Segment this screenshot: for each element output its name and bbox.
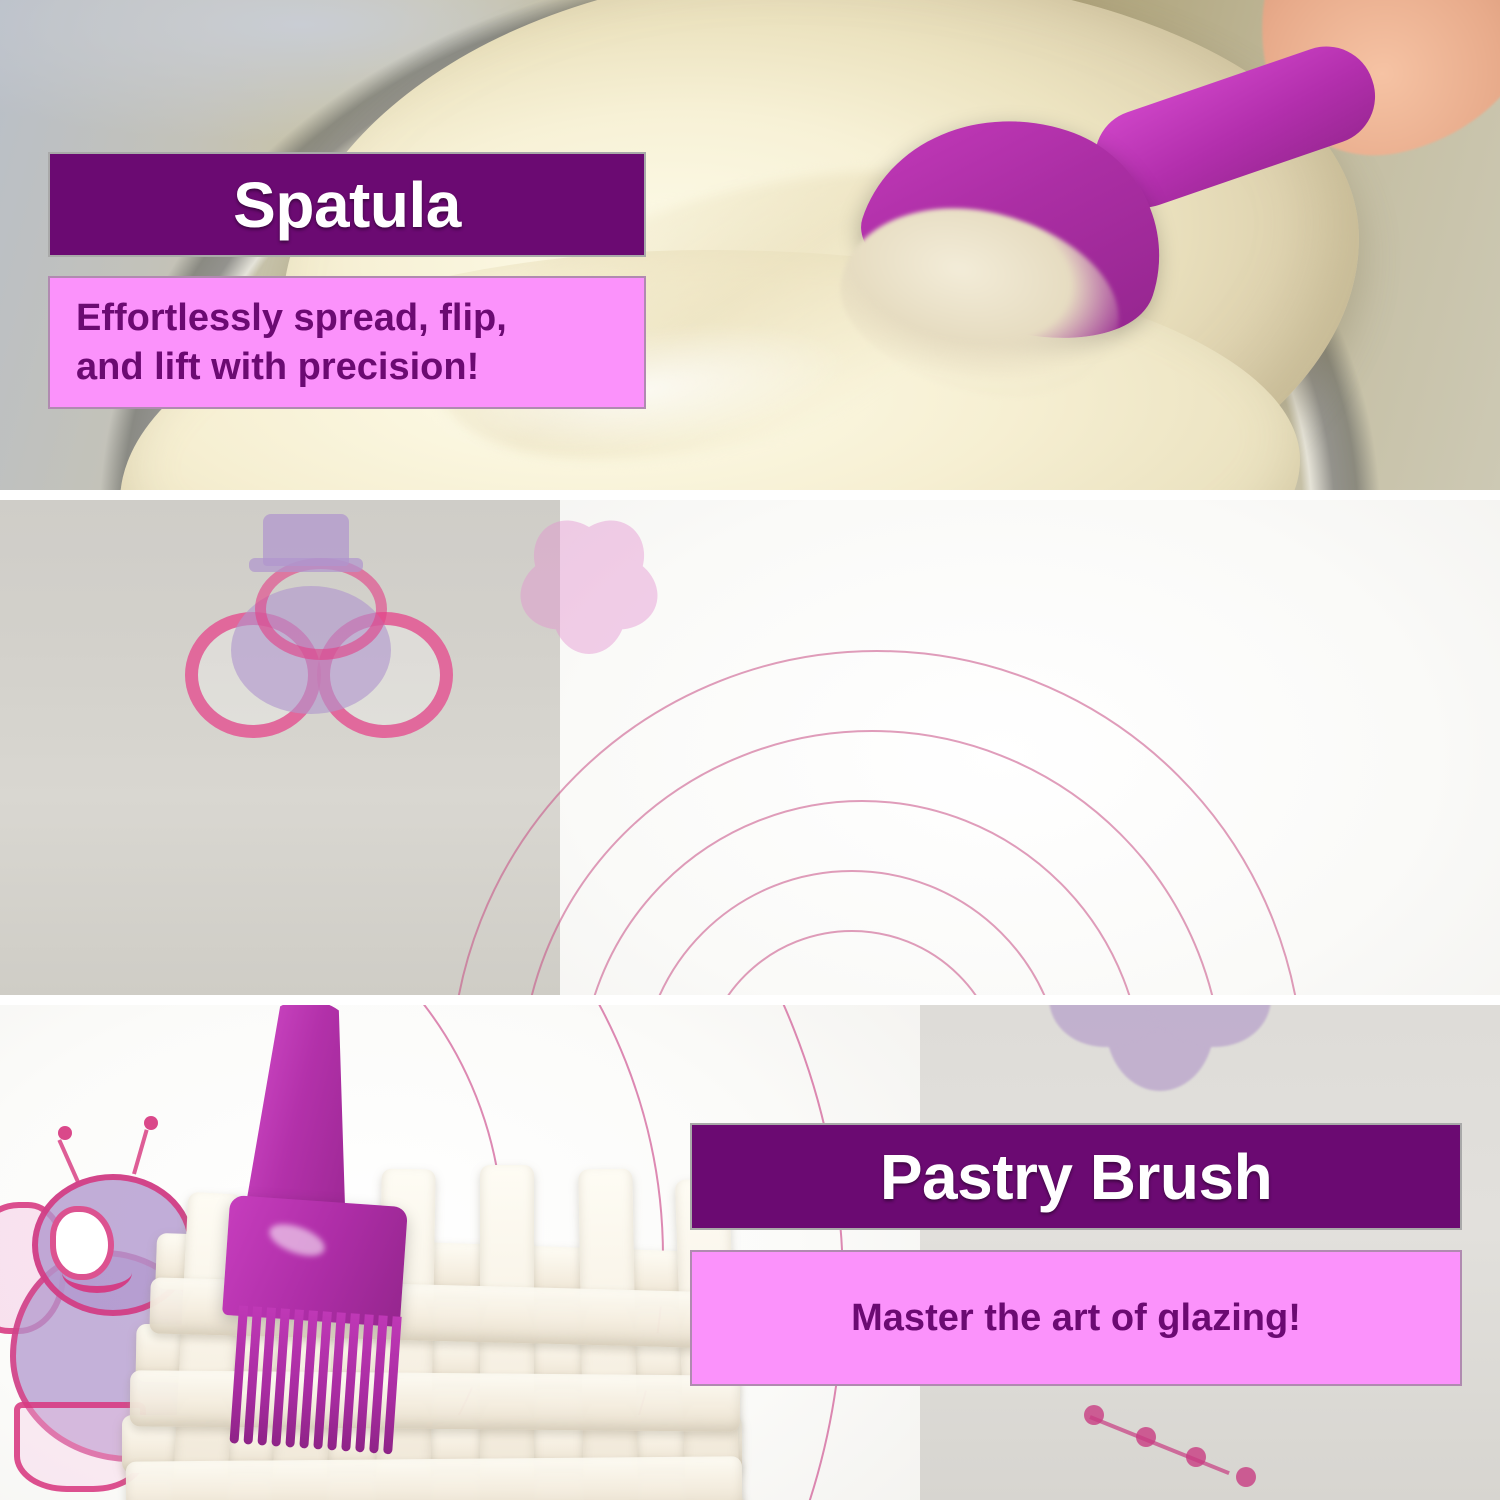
pastry-brush-description: Master the art of glazing! (690, 1250, 1462, 1386)
branch-dot (1236, 1467, 1256, 1487)
pastry-brush-title: Pastry Brush (690, 1123, 1462, 1230)
pastry-brush-callout: Pastry Brush Master the art of glazing! (690, 1123, 1462, 1386)
pastry-brush-description-line-1: Master the art of glazing! (851, 1294, 1301, 1343)
divider-2 (0, 995, 1500, 1005)
spatula-title: Spatula (48, 152, 646, 257)
mat-flower (500, 530, 680, 690)
branch-dot (1084, 1405, 1104, 1425)
spatula-description-line-1: Effortlessly spread, flip, (76, 294, 507, 343)
lattice-pie (60, 1115, 780, 1500)
brush-bristles (227, 1305, 404, 1456)
spatula-description-line-2: and lift with precision! (76, 343, 507, 392)
lattice-strip (126, 1456, 742, 1500)
panel-spatula: Spatula Effortlessly spread, flip, and l… (0, 0, 1500, 490)
panel-scraper: 9 8 7 (0, 500, 1500, 995)
mat-bear-character (185, 520, 435, 720)
branch-dot (1186, 1447, 1206, 1467)
bear-chef-hat (263, 514, 349, 566)
panel-pastry-brush: Pastry Brush Master the art of glazing! (0, 1005, 1500, 1500)
product-feature-infographic: Spatula Effortlessly spread, flip, and l… (0, 0, 1500, 1500)
scraper-photo: 9 8 7 (0, 500, 1500, 995)
bear-muzzle (255, 558, 387, 660)
spatula-callout: Spatula Effortlessly spread, flip, and l… (48, 152, 646, 409)
spatula-description: Effortlessly spread, flip, and lift with… (48, 276, 646, 409)
divider-1 (0, 490, 1500, 500)
lattice-strip (130, 1370, 740, 1431)
branch-dot (1136, 1427, 1156, 1447)
